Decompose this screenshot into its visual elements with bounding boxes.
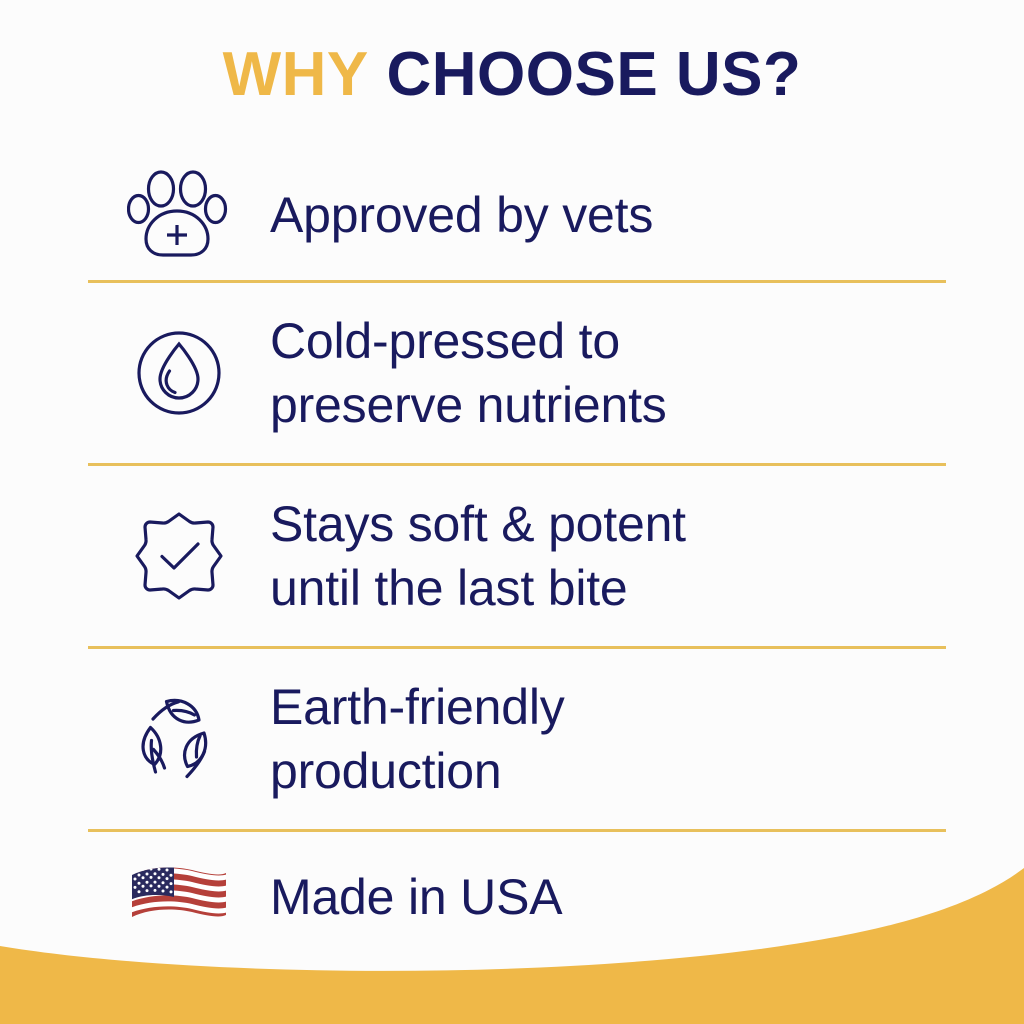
paw-medical-icon [88, 150, 270, 280]
feature-row-made-in-usa: Made in USA [88, 832, 946, 962]
feature-label-cold-pressed: Cold-pressed to preserve nutrients [270, 309, 946, 437]
why-choose-us-panel: WHY CHOOSE US? Approved by vets [0, 0, 1024, 1024]
feature-row-earth-friendly: Earth-friendly production [88, 649, 946, 829]
recycle-leaves-icon [88, 649, 270, 829]
feature-row-stays-soft: Stays soft & potent until the last bite [88, 466, 946, 646]
page-title: WHY CHOOSE US? [0, 44, 1024, 106]
badge-check-icon [88, 466, 270, 646]
page-title-gold-word: WHY [223, 40, 369, 109]
feature-row-approved-by-vets: Approved by vets [88, 150, 946, 280]
feature-label-earth-friendly: Earth-friendly production [270, 675, 946, 803]
page-title-navy-words: CHOOSE US? [386, 40, 801, 109]
usa-flag-icon [88, 832, 270, 962]
feature-row-cold-pressed: Cold-pressed to preserve nutrients [88, 283, 946, 463]
feature-label-approved-by-vets: Approved by vets [270, 183, 946, 247]
feature-list: Approved by vets Cold-pressed to preserv… [88, 150, 946, 962]
feature-label-made-in-usa: Made in USA [270, 865, 946, 929]
droplet-circle-icon [88, 283, 270, 463]
feature-label-stays-soft: Stays soft & potent until the last bite [270, 492, 946, 620]
